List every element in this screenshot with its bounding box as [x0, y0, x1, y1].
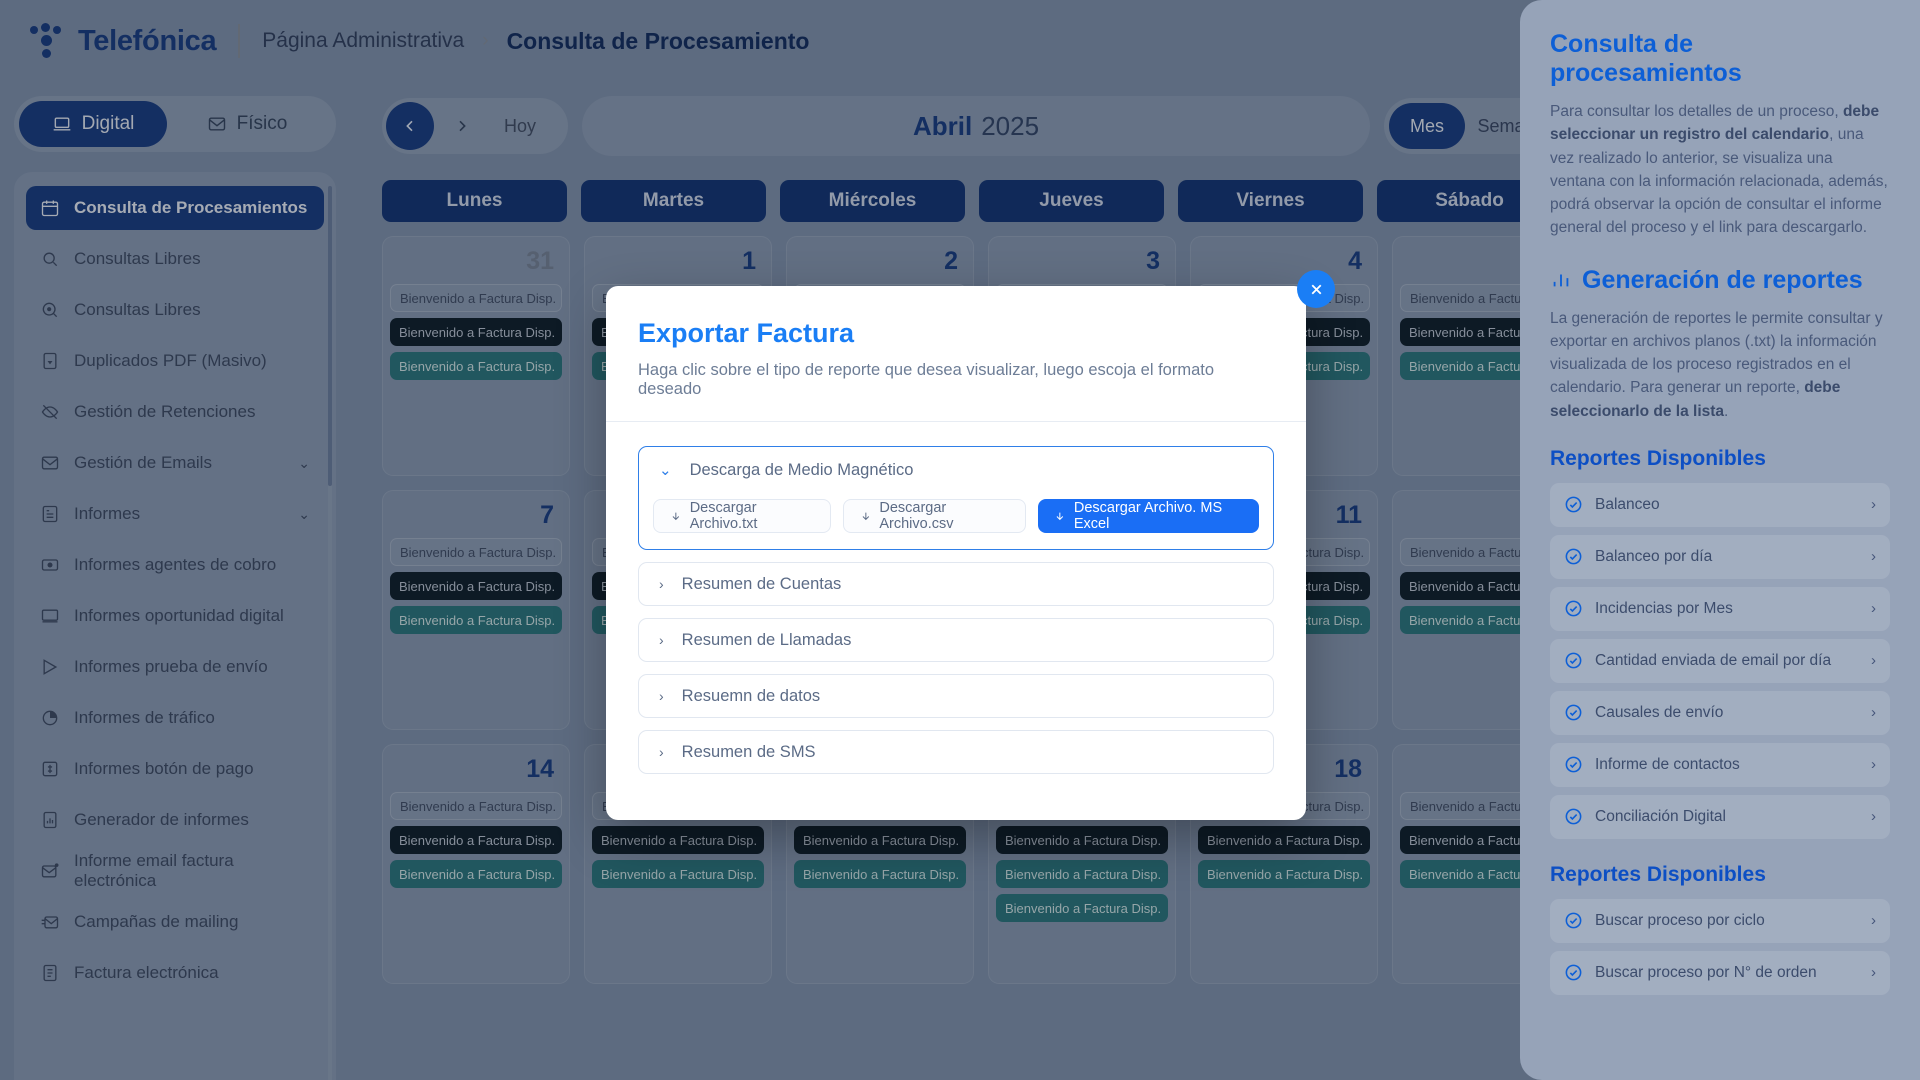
close-icon: [1308, 281, 1325, 298]
sidebar-item-label: Informes: [74, 504, 140, 524]
sidebar-scrollbar-thumb[interactable]: [328, 186, 332, 486]
sidebar-item-label: Campañas de mailing: [74, 912, 238, 932]
calendar-dayname-3: Jueves: [979, 180, 1164, 222]
calendar-event-chip[interactable]: Bienvenido a Factura Disp.: [390, 318, 562, 346]
view-month-button[interactable]: Mes: [1389, 103, 1465, 149]
current-month-display: Abril 2025: [582, 96, 1370, 156]
calendar-event-chip[interactable]: Bienvenido a Factura Disp.: [592, 860, 764, 888]
check-circle-icon: [1564, 651, 1583, 670]
chevron-down-icon: ⌄: [659, 461, 672, 479]
mail-alert-icon: [40, 861, 60, 881]
chevron-right-icon: ›: [1871, 756, 1876, 773]
help-panel: Consulta de procesamientos Para consulta…: [1520, 0, 1920, 1080]
check-circle-icon: [1564, 547, 1583, 566]
telefonica-dots-icon: [28, 22, 66, 60]
calendar-event-chip[interactable]: Bienvenido a Factura Disp.: [390, 352, 562, 380]
report-item-label: Balanceo: [1595, 496, 1660, 514]
chevron-right-icon: ›: [1871, 912, 1876, 929]
envelope-icon: [207, 114, 227, 134]
envelope-icon: [40, 453, 60, 473]
sidebar-nav: Consulta de ProcesamientosConsultas Libr…: [14, 172, 336, 1080]
calendar-day-number: 31: [390, 245, 562, 284]
sidebar-item-4[interactable]: Gestión de Retenciones: [26, 390, 324, 434]
report-item-group1-4[interactable]: Causales de envío›: [1550, 691, 1890, 735]
report-icon: [40, 504, 60, 524]
accordion-label: Resumen de Cuentas: [682, 575, 842, 594]
download-button-label: Descargar Archivo.txt: [690, 500, 814, 532]
pie-chart-icon: [40, 708, 60, 728]
chevron-right-icon: ›: [659, 744, 664, 760]
report-item-group1-5[interactable]: Informe de contactos›: [1550, 743, 1890, 787]
sidebar-item-label: Factura electrónica: [74, 963, 219, 983]
modal-subtitle: Haga clic sobre el tipo de reporte que d…: [638, 361, 1274, 399]
calendar-event-chip[interactable]: Bienvenido a Factura Disp.: [390, 792, 562, 820]
check-circle-icon: [1564, 807, 1583, 826]
report-item-label: Informe de contactos: [1595, 756, 1740, 774]
check-circle-icon: [1564, 911, 1583, 930]
calendar-day-headers: LunesMartesMiércolesJuevesViernesSábado: [382, 180, 1562, 222]
modal-body: ⌄ Descarga de Medio Magnético Descargar …: [606, 422, 1306, 820]
report-item-label: Causales de envío: [1595, 704, 1723, 722]
check-circle-icon: [1564, 963, 1583, 982]
chevron-left-icon: [402, 118, 418, 134]
sidebar-item-3[interactable]: Duplicados PDF (Masivo): [26, 339, 324, 383]
chevron-right-icon: ›: [1871, 964, 1876, 981]
help-title-2: Generación de reportes: [1550, 266, 1890, 295]
export-invoice-modal: Exportar Factura Haga clic sobre el tipo…: [606, 286, 1306, 820]
calendar-day-cell[interactable]: 31Bienvenido a Factura Disp.Bienvenido a…: [382, 236, 570, 476]
sidebar-item-label: Informes oportunidad digital: [74, 606, 284, 626]
chevron-right-icon: ›: [1871, 704, 1876, 721]
accordion-header-medio-magnetico[interactable]: ⌄ Descarga de Medio Magnético: [639, 447, 1273, 493]
sidebar-item-label: Informe email factura electrónica: [74, 851, 310, 891]
sidebar-item-label: Informes de tráfico: [74, 708, 215, 728]
accordion-section-open: ⌄ Descarga de Medio Magnético Descargar …: [638, 446, 1274, 550]
accordion-label: Descarga de Medio Magnético: [690, 461, 914, 480]
mode-fisico-button[interactable]: Físico: [167, 101, 327, 147]
modal-close-button[interactable]: [1297, 270, 1335, 308]
sidebar-item-label: Generador de informes: [74, 810, 249, 830]
calendar-event-chip[interactable]: Bienvenido a Factura Disp.: [996, 860, 1168, 888]
pdf-file-icon: [40, 351, 60, 371]
check-circle-icon: [1564, 755, 1583, 774]
current-year: 2025: [981, 111, 1039, 142]
report-item-group2-0[interactable]: Buscar proceso por ciclo›: [1550, 899, 1890, 943]
sidebar-item-label: Gestión de Emails: [74, 453, 212, 473]
sidebar-item-13[interactable]: Informe email factura electrónica: [26, 849, 324, 893]
calendar-event-chip[interactable]: Bienvenido a Factura Disp.: [996, 826, 1168, 854]
calendar-event-chip[interactable]: Bienvenido a Factura Disp.: [390, 572, 562, 600]
check-circle-icon: [1564, 495, 1583, 514]
accordion-label: Resuemn de datos: [682, 687, 821, 706]
download-icon: [670, 510, 682, 523]
check-circle-icon: [1564, 703, 1583, 722]
calendar-day-number: 2: [794, 245, 966, 284]
download-button-2[interactable]: Descargar Archivo. MS Excel: [1038, 499, 1259, 533]
sidebar-item-7[interactable]: Informes agentes de cobro: [26, 543, 324, 587]
sidebar-item-label: Informes agentes de cobro: [74, 555, 276, 575]
download-icon: [1054, 510, 1066, 523]
calendar-day-number: 14: [390, 753, 562, 792]
help-title-2-label: Generación de reportes: [1582, 266, 1863, 295]
download-button-0[interactable]: Descargar Archivo.txt: [653, 499, 831, 533]
calendar-event-chip[interactable]: Bienvenido a Factura Disp.: [1198, 826, 1370, 854]
bar-chart-file-icon: [40, 810, 60, 830]
report-item-group1-0[interactable]: Balanceo›: [1550, 483, 1890, 527]
money-icon: [40, 555, 60, 575]
sidebar-item-label: Informes botón de pago: [74, 759, 254, 779]
sidebar-item-11[interactable]: Informes botón de pago: [26, 747, 324, 791]
report-item-label: Balanceo por día: [1595, 548, 1712, 566]
send-icon: [40, 657, 60, 677]
brand-logo[interactable]: Telefónica: [28, 22, 216, 60]
breadcrumb-current: Consulta de Procesamiento: [507, 28, 810, 55]
help-p2-part-c: .: [1724, 403, 1728, 420]
monitor-icon: [40, 606, 60, 626]
chevron-right-icon: ›: [659, 632, 664, 648]
bar-chart-icon: [1550, 269, 1572, 291]
download-button-1[interactable]: Descargar Archivo.csv: [843, 499, 1026, 533]
help-section-2-title: Reportes Disponibles: [1550, 863, 1890, 887]
brand-name: Telefónica: [78, 25, 216, 58]
mode-digital-button[interactable]: Digital: [19, 101, 167, 147]
calendar-event-chip[interactable]: Bienvenido a Factura Disp.: [390, 860, 562, 888]
calendar-day-number: 3: [996, 245, 1168, 284]
calendar-event-chip[interactable]: Bienvenido a Factura Disp.: [996, 894, 1168, 922]
calendar-icon: [40, 198, 60, 218]
calendar-event-chip[interactable]: Bienvenido a Factura Disp.: [390, 606, 562, 634]
calendar-dayname-4: Viernes: [1178, 180, 1363, 222]
calendar-event-chip[interactable]: Bienvenido a Factura Disp.: [592, 826, 764, 854]
sidebar-item-label: Consultas Libres: [74, 300, 201, 320]
report-item-group1-3[interactable]: Cantidad enviada de email por día›: [1550, 639, 1890, 683]
report-item-label: Conciliación Digital: [1595, 808, 1726, 826]
report-item-label: Buscar proceso por ciclo: [1595, 912, 1765, 930]
prev-month-button[interactable]: [386, 102, 434, 150]
check-circle-icon: [1564, 599, 1583, 618]
mail-send-icon: [40, 912, 60, 932]
calendar-day-cell[interactable]: 14Bienvenido a Factura Disp.Bienvenido a…: [382, 744, 570, 984]
calendar-dayname-2: Miércoles: [780, 180, 965, 222]
payment-icon: [40, 759, 60, 779]
download-button-group: Descargar Archivo.txtDescargar Archivo.c…: [639, 493, 1273, 549]
sidebar-item-5[interactable]: Gestión de Emails⌄: [26, 441, 324, 485]
calendar-event-chip[interactable]: Bienvenido a Factura Disp.: [390, 284, 562, 312]
chevron-down-icon[interactable]: ⌄: [298, 455, 310, 472]
download-button-label: Descargar Archivo. MS Excel: [1074, 500, 1243, 532]
sidebar-item-14[interactable]: Campañas de mailing: [26, 900, 324, 944]
sidebar-item-label: Duplicados PDF (Masivo): [74, 351, 267, 371]
calendar-dayname-0: Lunes: [382, 180, 567, 222]
calendar-day-number: 7: [390, 499, 562, 538]
download-button-label: Descargar Archivo.csv: [879, 500, 1009, 532]
breadcrumb-parent[interactable]: Página Administrativa: [262, 29, 464, 53]
sidebar-region: Digital Físico Consulta de Procesamiento…: [14, 96, 350, 1080]
sidebar-item-15[interactable]: Factura electrónica: [26, 951, 324, 995]
chevron-right-icon: ›: [659, 576, 664, 592]
report-item-label: Incidencias por Mes: [1595, 600, 1733, 618]
report-item-group1-6[interactable]: Conciliación Digital›: [1550, 795, 1890, 839]
report-item-group2-1[interactable]: Buscar proceso por N° de orden›: [1550, 951, 1890, 995]
accordion-label: Resumen de SMS: [682, 743, 816, 762]
chevron-right-icon: ›: [1871, 548, 1876, 565]
sidebar-item-10[interactable]: Informes de tráfico: [26, 696, 324, 740]
accordion-section-1[interactable]: ›Resumen de Llamadas: [638, 618, 1274, 662]
sidebar-item-0[interactable]: Consulta de Procesamientos: [26, 186, 324, 230]
modal-header: Exportar Factura Haga clic sobre el tipo…: [606, 286, 1306, 422]
calendar-day-number: 1: [592, 245, 764, 284]
sidebar-item-9[interactable]: Informes prueba de envío: [26, 645, 324, 689]
help-p1-part-a: Para consultar los detalles de un proces…: [1550, 103, 1843, 120]
calendar-event-chip[interactable]: Bienvenido a Factura Disp.: [794, 860, 966, 888]
search-icon: [40, 249, 60, 269]
today-button[interactable]: Hoy: [490, 116, 536, 137]
chevron-right-icon: ›: [1871, 652, 1876, 669]
sidebar-item-label: Informes prueba de envío: [74, 657, 268, 677]
breadcrumb-separator-icon: ›: [482, 30, 488, 52]
help-title: Consulta de procesamientos: [1550, 30, 1890, 88]
chevron-right-icon: ›: [1871, 496, 1876, 513]
calendar-event-chip[interactable]: Bienvenido a Factura Disp.: [390, 826, 562, 854]
mode-toggle[interactable]: Digital Físico: [14, 96, 336, 152]
mode-digital-label: Digital: [82, 113, 135, 135]
sidebar-item-label: Consulta de Procesamientos: [74, 198, 307, 218]
chevron-right-icon: [454, 118, 470, 134]
sidebar-item-1[interactable]: Consultas Libres: [26, 237, 324, 281]
laptop-icon: [52, 114, 72, 134]
accordion-section-3[interactable]: ›Resumen de SMS: [638, 730, 1274, 774]
calendar-event-chip[interactable]: Bienvenido a Factura Disp.: [1198, 860, 1370, 888]
mode-fisico-label: Físico: [237, 113, 288, 135]
sidebar-item-label: Consultas Libres: [74, 249, 201, 269]
accordion-section-0[interactable]: ›Resumen de Cuentas: [638, 562, 1274, 606]
download-icon: [860, 510, 872, 523]
sidebar-item-8[interactable]: Informes oportunidad digital: [26, 594, 324, 638]
report-item-label: Cantidad enviada de email por día: [1595, 652, 1831, 670]
chevron-down-icon[interactable]: ⌄: [298, 506, 310, 523]
calendar-event-chip[interactable]: Bienvenido a Factura Disp.: [794, 826, 966, 854]
sidebar-item-label: Gestión de Retenciones: [74, 402, 255, 422]
accordion-section-2[interactable]: ›Resuemn de datos: [638, 674, 1274, 718]
calendar-event-chip[interactable]: Bienvenido a Factura Disp.: [390, 538, 562, 566]
header-divider: [238, 24, 240, 58]
report-item-group1-1[interactable]: Balanceo por día›: [1550, 535, 1890, 579]
report-item-group1-2[interactable]: Incidencias por Mes›: [1550, 587, 1890, 631]
current-month-name: Abril: [913, 111, 972, 142]
chevron-right-icon: ›: [1871, 600, 1876, 617]
calendar-nav-group: Hoy: [382, 98, 568, 154]
sidebar-item-2[interactable]: Consultas Libres: [26, 288, 324, 332]
search-circle-icon: [40, 300, 60, 320]
next-month-button[interactable]: [438, 102, 486, 150]
report-item-label: Buscar proceso por N° de orden: [1595, 964, 1817, 982]
calendar-dayname-1: Martes: [581, 180, 766, 222]
accordion-label: Resumen de Llamadas: [682, 631, 852, 650]
sidebar-item-12[interactable]: Generador de informes: [26, 798, 324, 842]
chevron-right-icon: ›: [1871, 808, 1876, 825]
help-paragraph-1: Para consultar los detalles de un proces…: [1550, 100, 1890, 240]
help-paragraph-2: La generación de reportes le permite con…: [1550, 307, 1890, 423]
eye-off-icon: [40, 402, 60, 422]
chevron-right-icon: ›: [659, 688, 664, 704]
calendar-day-cell[interactable]: 7Bienvenido a Factura Disp.Bienvenido a …: [382, 490, 570, 730]
help-section-1-title: Reportes Disponibles: [1550, 447, 1890, 471]
calendar-toolbar: Hoy Abril 2025 Mes Semana: [382, 96, 1562, 156]
document-icon: [40, 963, 60, 983]
sidebar-item-6[interactable]: Informes⌄: [26, 492, 324, 536]
calendar-day-number: 4: [1198, 245, 1370, 284]
modal-title: Exportar Factura: [638, 318, 1274, 349]
